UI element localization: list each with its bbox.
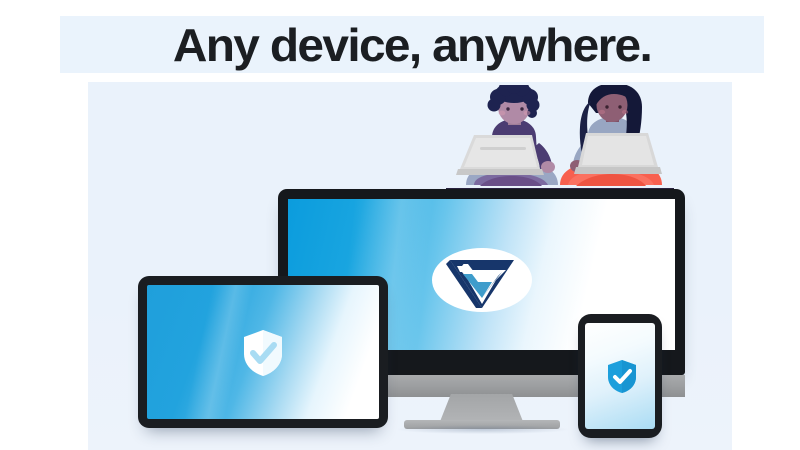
phone-screen <box>585 323 655 429</box>
shield-arrow-logo <box>432 242 532 318</box>
device-tablet <box>138 276 388 428</box>
headline-band: Any device, anywhere. <box>60 16 764 73</box>
people-illustration <box>436 85 680 197</box>
panel-description: Illustration of a monitor, tablet and sm… <box>88 82 89 83</box>
tablet-screen <box>147 285 379 419</box>
monitor-shadow <box>398 425 568 434</box>
shield-check-icon <box>606 359 638 394</box>
shield-check-icon <box>240 328 286 378</box>
illustration-panel: Illustration of a monitor, tablet and sm… <box>88 82 732 450</box>
page-title: Any device, anywhere. <box>46 16 778 73</box>
device-phone <box>578 314 662 438</box>
promo-banner: Any device, anywhere. <box>0 0 800 450</box>
